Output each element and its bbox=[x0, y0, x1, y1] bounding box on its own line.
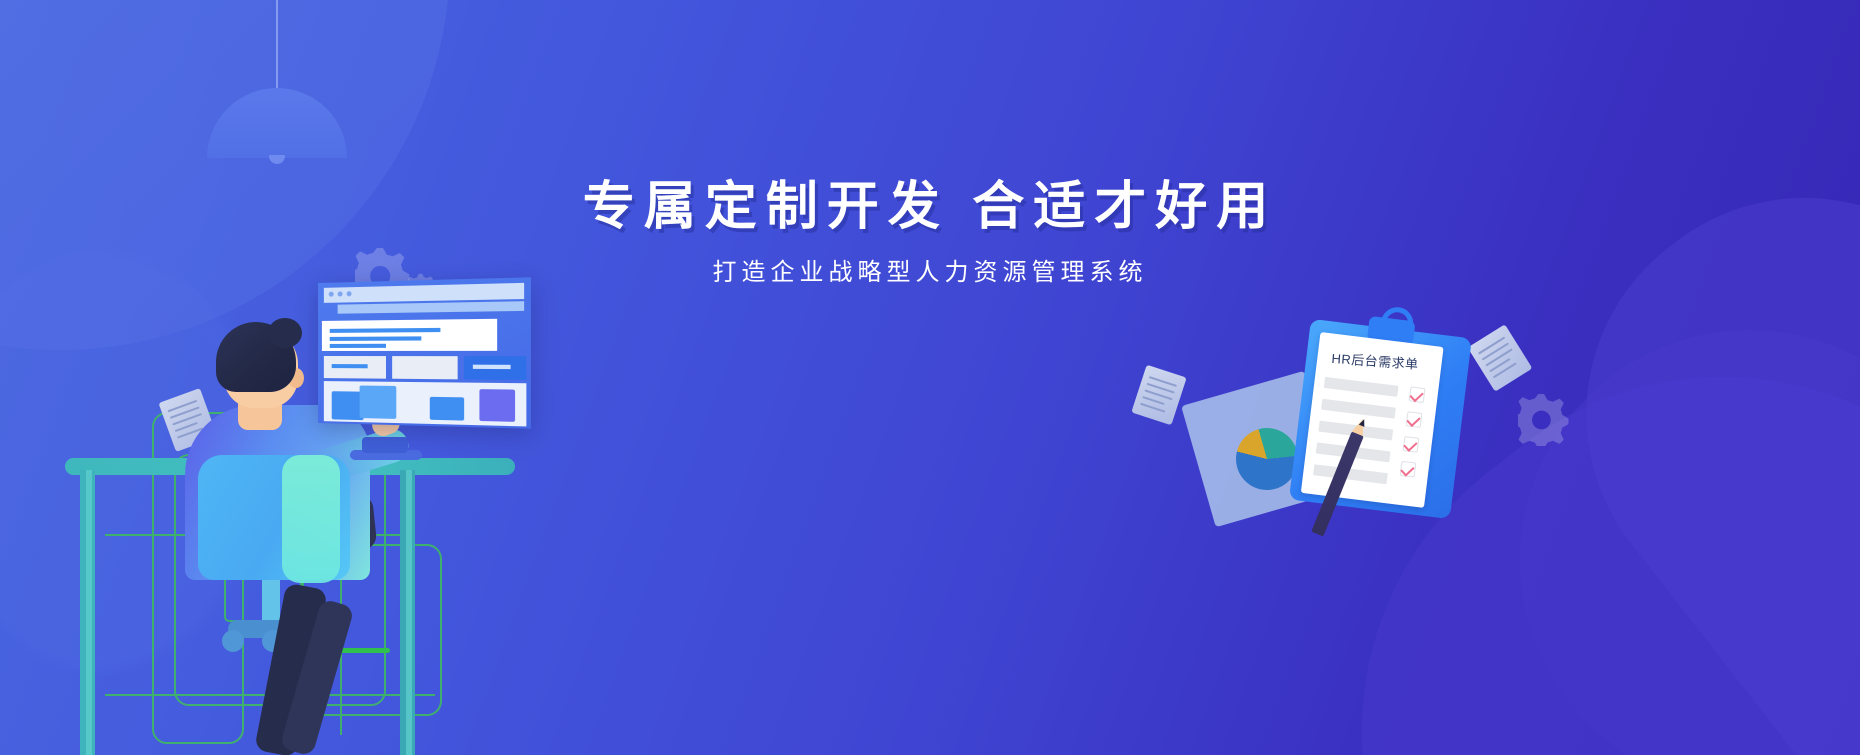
page-title: 专属定制开发 合适才好用 bbox=[0, 178, 1860, 238]
clipboard-checkbox bbox=[1403, 436, 1420, 453]
monitor-stand bbox=[362, 437, 408, 453]
window-dot-1 bbox=[329, 292, 334, 297]
lamp-bulb bbox=[269, 155, 285, 164]
clipboard-title: HR后台需求单 bbox=[1331, 348, 1419, 373]
chair-wheel-left bbox=[222, 630, 244, 652]
browser-window-mockup bbox=[318, 277, 531, 428]
clipboard-row bbox=[1324, 377, 1399, 397]
pendant-lamp-icon bbox=[207, 0, 347, 160]
content-tile-1 bbox=[324, 356, 386, 379]
document-icon-mid bbox=[1131, 365, 1186, 426]
person-hair-bun bbox=[268, 318, 302, 348]
content-card-top bbox=[322, 319, 497, 351]
clipboard: HR后台需求单 bbox=[1289, 309, 1473, 519]
hero-banner: HR后台需求单 专属定制开发 合适才好用 打造企业战略型人力资源管理系统 bbox=[0, 0, 1860, 755]
browser-urlbar bbox=[338, 301, 524, 314]
clipboard-checkbox bbox=[1406, 411, 1423, 428]
chair-backrest-highlight bbox=[282, 455, 340, 583]
window-dot-3 bbox=[347, 291, 352, 296]
clipboard-row bbox=[1321, 399, 1396, 419]
document-icon-right bbox=[1468, 324, 1533, 391]
clipboard-checkbox bbox=[1409, 386, 1426, 403]
background-blob-right bbox=[1520, 330, 1860, 755]
banner-copy: 专属定制开发 合适才好用 打造企业战略型人力资源管理系统 bbox=[0, 178, 1860, 287]
desk-leg-right-highlight bbox=[406, 470, 412, 755]
lamp-shade bbox=[207, 88, 347, 158]
content-panel bbox=[324, 381, 527, 426]
desk-leg-left-highlight bbox=[86, 470, 92, 755]
clipboard-checkbox bbox=[1400, 461, 1417, 478]
clipboard-paper: HR后台需求单 bbox=[1301, 332, 1444, 508]
page-subtitle: 打造企业战略型人力资源管理系统 bbox=[0, 252, 1860, 287]
gear-icon-right bbox=[1518, 394, 1570, 446]
content-tile-3 bbox=[464, 356, 526, 380]
content-tile-2 bbox=[392, 356, 457, 379]
lamp-cord bbox=[276, 0, 278, 92]
